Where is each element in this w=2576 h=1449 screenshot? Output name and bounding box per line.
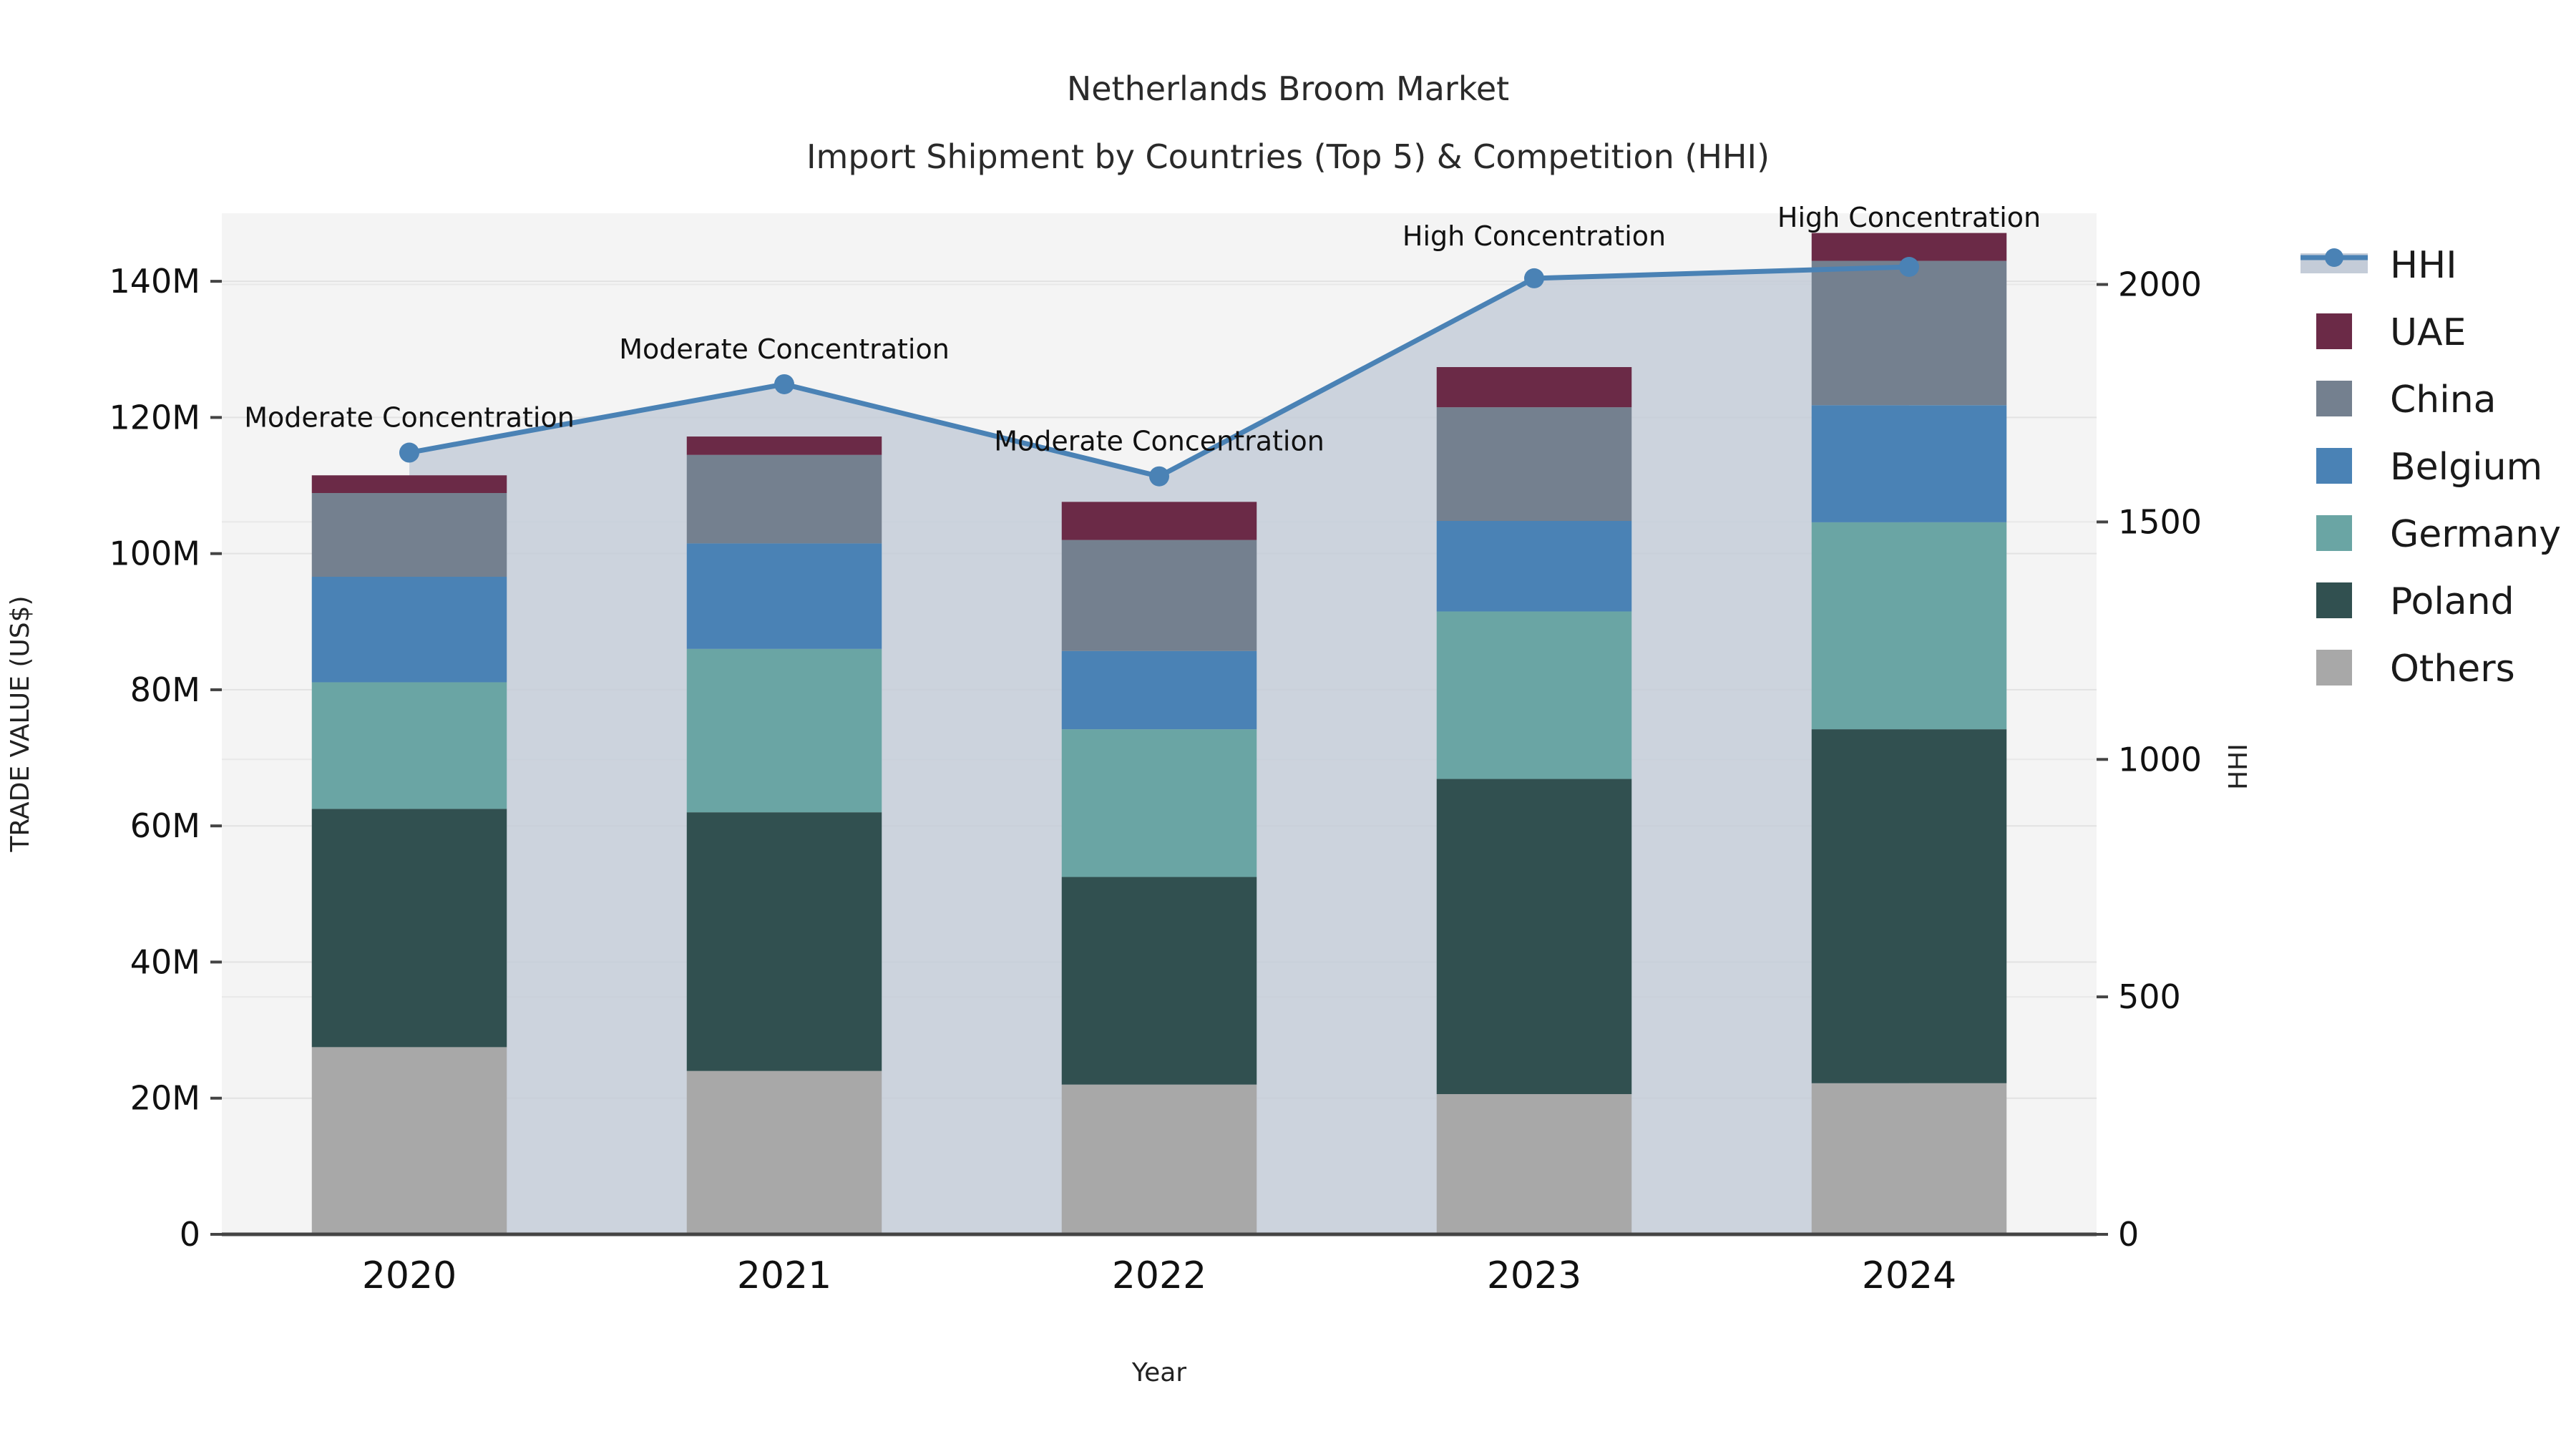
legend-label: China bbox=[2390, 379, 2497, 421]
bar-segment-uae bbox=[1062, 502, 1257, 540]
bar-segment-belgium bbox=[1437, 521, 1631, 612]
bar-segment-germany bbox=[1812, 522, 2006, 729]
chart-subtitle: Import Shipment by Countries (Top 5) & C… bbox=[806, 137, 1770, 176]
y-axis-tick-label: 120M bbox=[109, 398, 201, 436]
bar-segment-china bbox=[1437, 407, 1631, 521]
legend-item-belgium[interactable]: Belgium bbox=[2316, 446, 2542, 489]
chart-title: Netherlands Broom Market bbox=[1067, 69, 1509, 108]
bar-segment-belgium bbox=[1062, 651, 1257, 729]
legend-color-swatch bbox=[2316, 650, 2352, 686]
legend-label: UAE bbox=[2390, 311, 2467, 354]
x-axis-tick-label: 2024 bbox=[1862, 1254, 1956, 1297]
y2-axis-tick-label: 500 bbox=[2118, 977, 2181, 1016]
bar-segment-germany bbox=[1062, 729, 1257, 877]
bar-segment-poland bbox=[1062, 877, 1257, 1085]
bar-segment-uae bbox=[312, 475, 507, 493]
hhi-marker[interactable] bbox=[774, 374, 794, 394]
y2-axis-tick-label: 2000 bbox=[2118, 265, 2202, 304]
y2-axis-tick-label: 0 bbox=[2118, 1215, 2139, 1254]
bar-segment-belgium bbox=[312, 577, 507, 682]
y-axis-tick-label: 40M bbox=[130, 942, 200, 981]
x-axis-title: Year bbox=[1131, 1358, 1186, 1387]
y-axis-tick-label: 20M bbox=[130, 1079, 200, 1118]
bar-group bbox=[1062, 502, 1257, 1234]
y-axis-tick-label: 60M bbox=[130, 806, 200, 845]
bar-segment-others bbox=[312, 1047, 507, 1234]
x-axis-tick-label: 2022 bbox=[1112, 1254, 1206, 1297]
bar-segment-belgium bbox=[1812, 405, 2006, 522]
bar-segment-others bbox=[1062, 1085, 1257, 1234]
bar-segment-poland bbox=[1437, 779, 1631, 1094]
legend-color-swatch bbox=[2316, 582, 2352, 618]
y-axis-title: TRADE VALUE (US$) bbox=[6, 595, 35, 852]
bar-segment-china bbox=[312, 493, 507, 577]
chart-canvas: Netherlands Broom Market Import Shipment… bbox=[0, 0, 2576, 1449]
legend-color-swatch bbox=[2316, 448, 2352, 484]
bar-segment-uae bbox=[1812, 233, 2006, 261]
bar-segment-poland bbox=[312, 809, 507, 1047]
hhi-marker[interactable] bbox=[1899, 257, 1919, 277]
bar-segment-germany bbox=[312, 682, 507, 809]
legend-label: Belgium bbox=[2390, 446, 2542, 489]
legend-item-china[interactable]: China bbox=[2316, 379, 2497, 421]
bar-group bbox=[1812, 233, 2006, 1234]
bar-segment-germany bbox=[1437, 612, 1631, 779]
legend-color-swatch bbox=[2316, 515, 2352, 551]
plot-area: Moderate ConcentrationModerate Concentra… bbox=[6, 202, 2253, 1387]
hhi-marker[interactable] bbox=[399, 443, 419, 463]
annotation-label: Moderate Concentration bbox=[244, 402, 575, 434]
legend-label: HHI bbox=[2390, 244, 2457, 287]
legend-marker-icon bbox=[2325, 248, 2343, 267]
chart-page: Netherlands Broom Market Import Shipment… bbox=[0, 0, 2576, 1449]
x-axis-tick-label: 2020 bbox=[362, 1254, 457, 1297]
y-axis-tick-label: 80M bbox=[130, 670, 200, 709]
bar-segment-others bbox=[1812, 1083, 2006, 1234]
bar-segment-uae bbox=[1437, 367, 1631, 407]
y2-axis-tick-label: 1000 bbox=[2118, 740, 2202, 779]
y2-axis-tick-label: 1500 bbox=[2118, 502, 2202, 541]
bar-segment-others bbox=[687, 1071, 882, 1234]
bar-segment-others bbox=[1437, 1094, 1631, 1234]
hhi-marker[interactable] bbox=[1524, 268, 1544, 288]
legend-color-swatch bbox=[2316, 381, 2352, 416]
legend-label: Germany bbox=[2390, 513, 2561, 556]
bar-segment-china bbox=[687, 455, 882, 544]
bar-segment-china bbox=[1062, 540, 1257, 651]
y-axis-tick-label: 140M bbox=[109, 262, 201, 301]
legend-item-others[interactable]: Others bbox=[2316, 648, 2515, 691]
annotation-label: Moderate Concentration bbox=[619, 333, 950, 365]
legend-label: Others bbox=[2390, 648, 2515, 691]
bar-segment-belgium bbox=[687, 543, 882, 648]
bar-group bbox=[1437, 367, 1631, 1234]
y2-axis-title: HHI bbox=[2224, 743, 2253, 790]
bar-segment-china bbox=[1812, 261, 2006, 406]
legend-label: Poland bbox=[2390, 580, 2514, 623]
legend-item-poland[interactable]: Poland bbox=[2316, 580, 2514, 623]
y-axis-tick-label: 100M bbox=[109, 535, 201, 573]
bar-group bbox=[312, 475, 507, 1234]
annotation-label: Moderate Concentration bbox=[994, 426, 1324, 457]
x-axis-tick-label: 2021 bbox=[737, 1254, 831, 1297]
bar-segment-germany bbox=[687, 649, 882, 812]
bar-group bbox=[687, 436, 882, 1234]
legend-item-uae[interactable]: UAE bbox=[2316, 311, 2467, 354]
hhi-marker[interactable] bbox=[1149, 467, 1169, 487]
y-axis-tick-label: 0 bbox=[180, 1215, 200, 1254]
bar-segment-uae bbox=[687, 436, 882, 455]
annotation-label: High Concentration bbox=[1777, 202, 2041, 233]
bar-segment-poland bbox=[1812, 729, 2006, 1083]
x-axis-tick-label: 2023 bbox=[1487, 1254, 1581, 1297]
bar-segment-poland bbox=[687, 812, 882, 1071]
annotation-label: High Concentration bbox=[1402, 220, 1666, 252]
legend-color-swatch bbox=[2316, 313, 2352, 349]
